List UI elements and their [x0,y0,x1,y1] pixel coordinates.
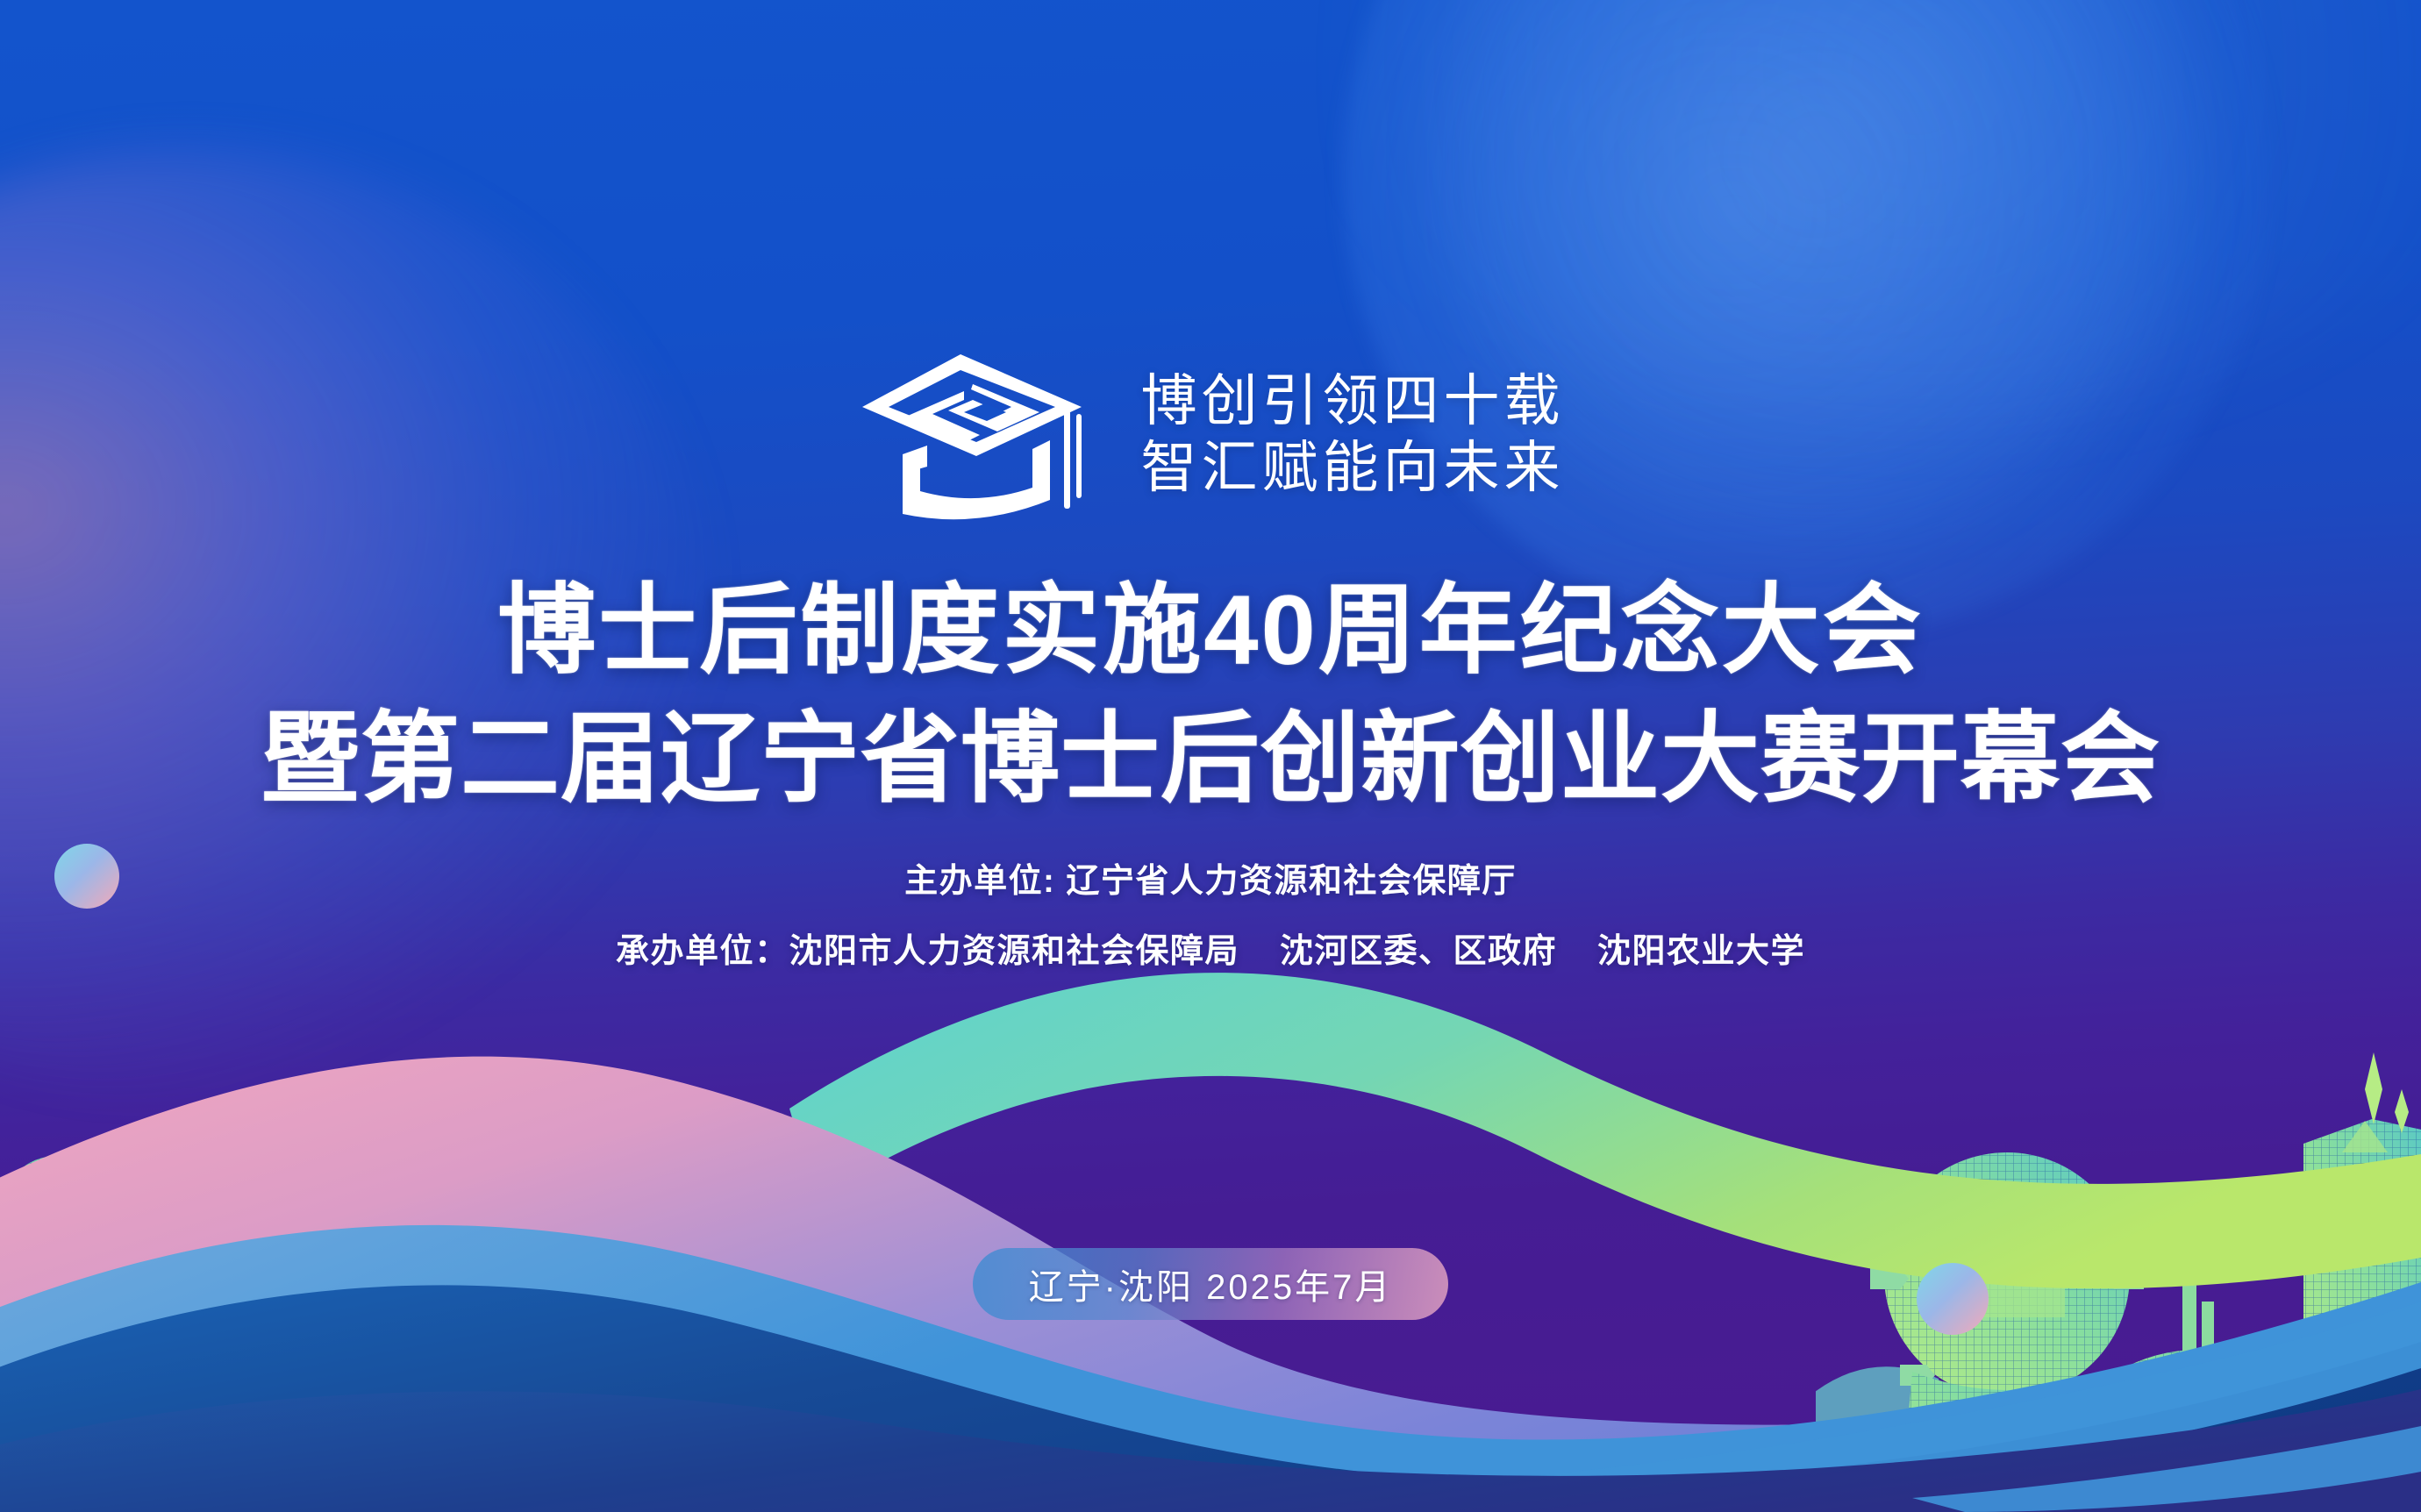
logo-slogan-lockup: 博创引领四十载 智汇赋能向未来 [857,349,1565,521]
graduation-cap-logo-icon [857,349,1096,521]
cohost-label: 承办单位： [616,933,789,970]
host-organizer: 主办单位: 辽宁省人力资源和社会保障厅 [616,865,1805,898]
conference-banner: 博创引领四十载 智汇赋能向未来 博士后制度实施40周年纪念大会 暨第二届辽宁省博… [0,0,2421,1512]
title-line-1: 博士后制度实施40周年纪念大会 [261,567,2160,695]
cohost-organizers: 承办单位：沈阳市人力资源和社会保障局沈河区委、区政府沈阳农业大学 [616,935,1805,968]
cohost-1: 沈阳市人力资源和社会保障局 [789,933,1239,970]
slogan-line-2: 智汇赋能向未来 [1141,435,1565,502]
slogan: 博创引领四十载 智汇赋能向未来 [1141,368,1565,501]
title-line-2: 暨第二届辽宁省博士后创新创业大赛开幕会 [261,695,2160,824]
date-location-badge: 辽宁·沈阳 2025年7月 [973,1248,1449,1320]
cohost-2: 沈河区委、区政府 [1280,933,1557,970]
cohost-3: 沈阳农业大学 [1597,933,1805,970]
organizers: 主办单位: 辽宁省人力资源和社会保障厅 承办单位：沈阳市人力资源和社会保障局沈河… [616,865,1805,968]
date-badge-wrap: 辽宁·沈阳 2025年7月 [0,1248,2421,1320]
slogan-line-1: 博创引领四十载 [1141,368,1565,435]
page-title: 博士后制度实施40周年纪念大会 暨第二届辽宁省博士后创新创业大赛开幕会 [261,567,2160,823]
